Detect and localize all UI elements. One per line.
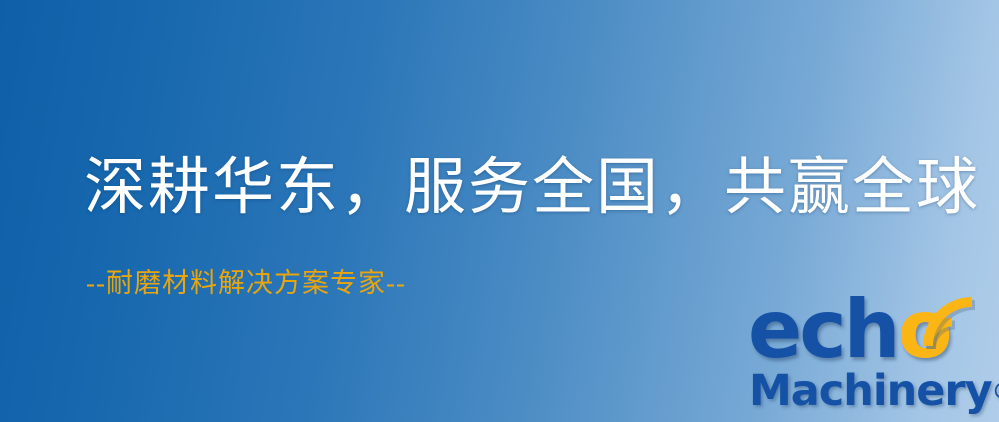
- banner-headline: 深耕华东，服务全国，共赢全球: [84, 152, 980, 224]
- hero-banner: 深耕华东，服务全国，共赢全球 --耐磨材料解决方案专家-- echo Machi…: [0, 0, 999, 422]
- registered-trademark-icon: ®: [992, 379, 999, 405]
- signal-arcs-icon: [908, 288, 980, 350]
- logo-machinery-text: Machinery: [749, 366, 992, 416]
- logo-echo-primary: ech: [748, 283, 898, 376]
- logo-wordmark-machinery: Machinery®: [749, 368, 999, 415]
- echo-machinery-logo[interactable]: echo Machinery®: [748, 296, 999, 422]
- logo-wordmark-echo: echo: [748, 296, 999, 374]
- banner-subtitle: --耐磨材料解决方案专家--: [86, 266, 406, 300]
